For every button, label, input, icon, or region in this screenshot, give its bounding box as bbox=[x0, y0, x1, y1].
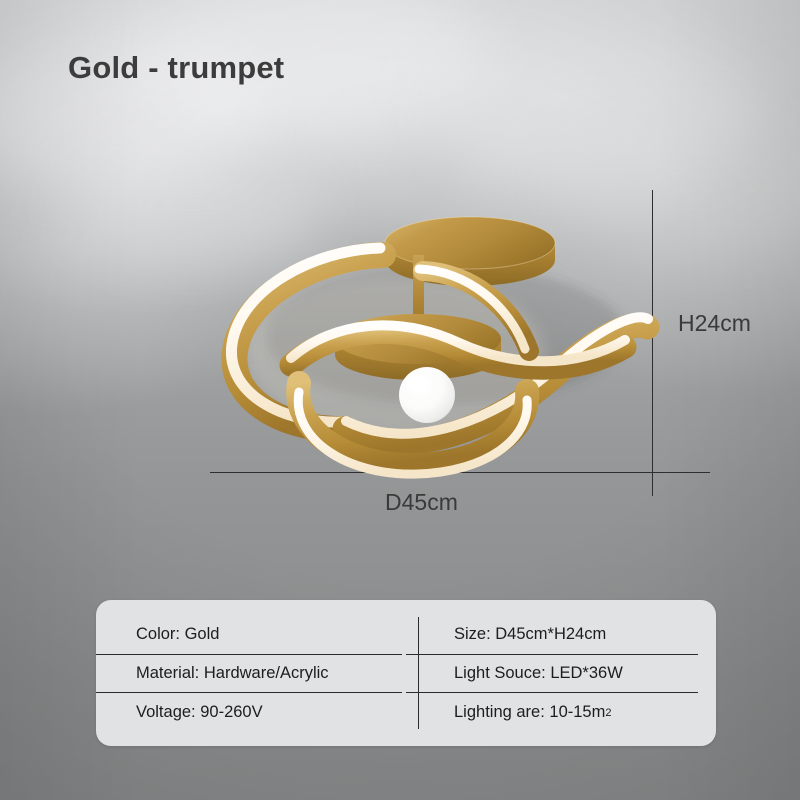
spec-material: Material: Hardware/Acrylic bbox=[96, 655, 402, 694]
spec-voltage: Voltage: 90-260V bbox=[96, 693, 406, 732]
specification-grid: Color: Gold Size: D45cm*H24cm Material: … bbox=[96, 600, 716, 746]
spec-column-divider bbox=[418, 617, 419, 729]
spec-lighting-area: Lighting are: 10-15m2 bbox=[406, 693, 716, 732]
ceiling-lamp-illustration bbox=[195, 215, 675, 485]
width-dimension-label: D45cm bbox=[385, 489, 458, 516]
spec-color: Color: Gold bbox=[96, 616, 402, 655]
page-title: Gold - trumpet bbox=[68, 50, 284, 86]
spec-lighting-area-text: Lighting are: 10-15m bbox=[454, 703, 605, 722]
spec-light-source: Light Souce: LED*36W bbox=[406, 655, 698, 694]
white-glass-globe bbox=[399, 367, 455, 423]
specification-panel: Color: Gold Size: D45cm*H24cm Material: … bbox=[96, 600, 716, 746]
height-dimension-label: H24cm bbox=[678, 310, 751, 337]
square-meter-superscript: 2 bbox=[605, 707, 611, 719]
product-image-canvas: Gold - trumpet H24cm D45cm bbox=[0, 0, 800, 800]
spec-size: Size: D45cm*H24cm bbox=[406, 616, 698, 655]
